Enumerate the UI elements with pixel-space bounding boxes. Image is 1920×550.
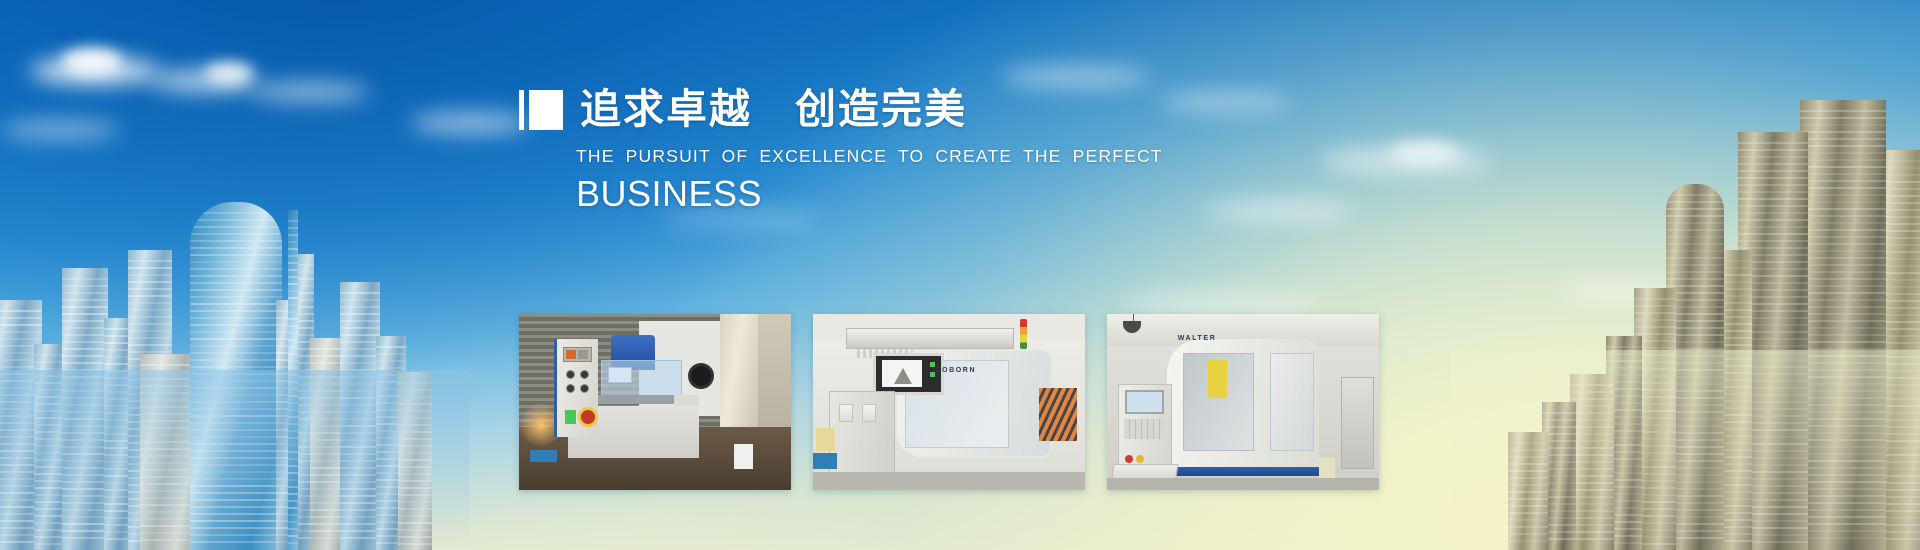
walter-machine-photo[interactable]: WALTER	[1107, 314, 1379, 490]
bar-block-logo-icon	[519, 88, 563, 130]
photo2-brand-label: COBORN	[935, 367, 976, 374]
cityscape-right	[1500, 80, 1920, 550]
hero-banner: 追求卓越 创造完美 THE PURSUIT OF EXCELLENCE TO C…	[0, 0, 1920, 550]
edm-machine-photo[interactable]	[519, 314, 791, 490]
tagline-english: THE PURSUIT OF EXCELLENCE TO CREATE THE …	[576, 146, 1219, 167]
haze-right	[1450, 350, 1920, 550]
coborn-machine-photo[interactable]: COBORN	[813, 314, 1085, 490]
banner-copy: 追求卓越 创造完美 THE PURSUIT OF EXCELLENCE TO C…	[519, 88, 1219, 215]
page-title: 追求卓越 创造完美	[580, 89, 967, 130]
photo3-brand-label: WALTER	[1178, 335, 1217, 342]
haze-left	[0, 370, 470, 550]
machine-photo-strip: COBORN WALTER	[519, 314, 1379, 490]
cityscape-left	[0, 150, 430, 550]
headline-row: 追求卓越 创造完美	[519, 88, 1219, 130]
business-word: BUSINESS	[576, 173, 1219, 215]
